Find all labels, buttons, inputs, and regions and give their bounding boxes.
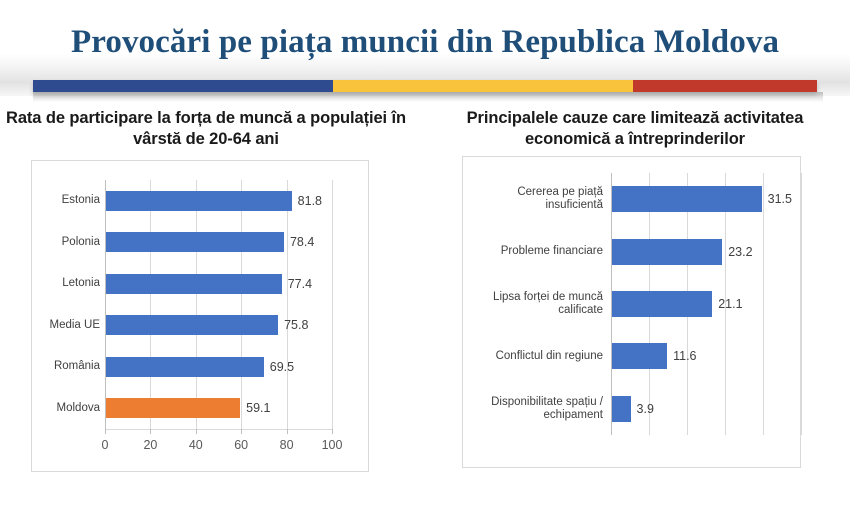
gridline: [241, 180, 242, 429]
axis-tick-mark: [196, 429, 197, 434]
category-label-line: Conflictul din regiune: [467, 350, 603, 363]
chart-panel-right: Principalele cauze care limitează activi…: [432, 108, 838, 150]
bar: [612, 396, 631, 422]
axis-baseline: [105, 429, 332, 430]
category-label-line: România: [20, 360, 100, 373]
bar-value-label: 75.8: [284, 318, 308, 332]
bar: [106, 191, 292, 211]
category-label-line: Estonia: [20, 194, 100, 207]
axis-tick-mark: [105, 429, 106, 434]
category-label-line: Probleme financiare: [467, 245, 603, 258]
plot-area-left: Estonia81.8Polonia78.4Letonia77.4Media U…: [32, 161, 368, 471]
gridline: [196, 180, 197, 429]
category-label-line: insuficientă: [467, 199, 603, 212]
category-label-line: Media UE: [20, 319, 100, 332]
gridline: [332, 180, 333, 429]
gridline: [801, 173, 802, 435]
category-label: România: [20, 360, 100, 373]
category-label: Letonia: [20, 277, 100, 290]
category-label: Cererea pe piațăinsuficientă: [467, 186, 603, 212]
bar-value-label: 11.6: [673, 349, 696, 363]
chart-title-right: Principalele cauze care limitează activi…: [432, 108, 838, 150]
page-title: Provocări pe piața muncii din Republica …: [0, 24, 850, 61]
chart-title-left: Rata de participare la forța de muncă a …: [6, 108, 406, 150]
axis-tick-label: 80: [270, 438, 304, 452]
bar-value-label: 3.9: [637, 402, 654, 416]
axis-tick-mark: [332, 429, 333, 434]
gridline: [763, 173, 764, 435]
category-label: Disponibilitate spațiu /echipament: [467, 396, 603, 422]
category-label-line: echipament: [467, 409, 603, 422]
bar-value-label: 31.5: [768, 192, 792, 206]
category-label-line: Disponibilitate spațiu /: [467, 396, 603, 409]
bar: [106, 315, 278, 335]
category-label: Lipsa forței de muncăcalificate: [467, 291, 603, 317]
bar: [612, 239, 722, 265]
plot-area-right: Cererea pe piațăinsuficientă31.5Probleme…: [463, 157, 800, 467]
accent-bar-segment-yellow: [333, 80, 633, 92]
bar-value-label: 59.1: [246, 401, 270, 415]
axis-tick-mark: [150, 429, 151, 434]
category-label: Media UE: [20, 319, 100, 332]
category-label: Probleme financiare: [467, 245, 603, 258]
category-label-line: Moldova: [20, 402, 100, 415]
bar-value-label: 69.5: [270, 360, 294, 374]
chart-right: Cererea pe piațăinsuficientă31.5Probleme…: [462, 156, 801, 468]
accent-bar: [33, 80, 817, 92]
accent-bar-shadow: [33, 92, 823, 102]
axis-tick-label: 60: [224, 438, 258, 452]
category-label: Conflictul din regiune: [467, 350, 603, 363]
accent-bar-segment-red: [633, 80, 817, 92]
slide-header: Provocări pe piața muncii din Republica …: [0, 0, 850, 100]
bar-value-label: 78.4: [290, 235, 314, 249]
bar: [106, 274, 282, 294]
category-label-line: Cererea pe piață: [467, 186, 603, 199]
axis-tick-label: 100: [315, 438, 349, 452]
axis-line: [105, 180, 106, 429]
gridline: [150, 180, 151, 429]
bar-value-label: 23.2: [728, 245, 752, 259]
bar: [106, 232, 284, 252]
accent-bar-segment-blue: [33, 80, 333, 92]
category-label-line: Polonia: [20, 236, 100, 249]
axis-tick-label: 40: [179, 438, 213, 452]
bar-value-label: 21.1: [718, 297, 742, 311]
axis-tick-mark: [287, 429, 288, 434]
bar-value-label: 81.8: [298, 194, 322, 208]
gridline: [287, 180, 288, 429]
category-label: Polonia: [20, 236, 100, 249]
chart-left: Estonia81.8Polonia78.4Letonia77.4Media U…: [31, 160, 369, 472]
category-label-line: calificate: [467, 304, 603, 317]
bar: [106, 398, 240, 418]
category-label-line: Letonia: [20, 277, 100, 290]
bar: [106, 357, 264, 377]
category-label: Moldova: [20, 402, 100, 415]
bar: [612, 186, 762, 212]
axis-tick-mark: [241, 429, 242, 434]
bar: [612, 291, 712, 317]
axis-tick-label: 20: [133, 438, 167, 452]
bar-value-label: 77.4: [288, 277, 312, 291]
chart-panel-left: Rata de participare la forța de muncă a …: [6, 108, 406, 150]
axis-tick-label: 0: [88, 438, 122, 452]
bar: [612, 343, 667, 369]
category-label-line: Lipsa forței de muncă: [467, 291, 603, 304]
category-label: Estonia: [20, 194, 100, 207]
